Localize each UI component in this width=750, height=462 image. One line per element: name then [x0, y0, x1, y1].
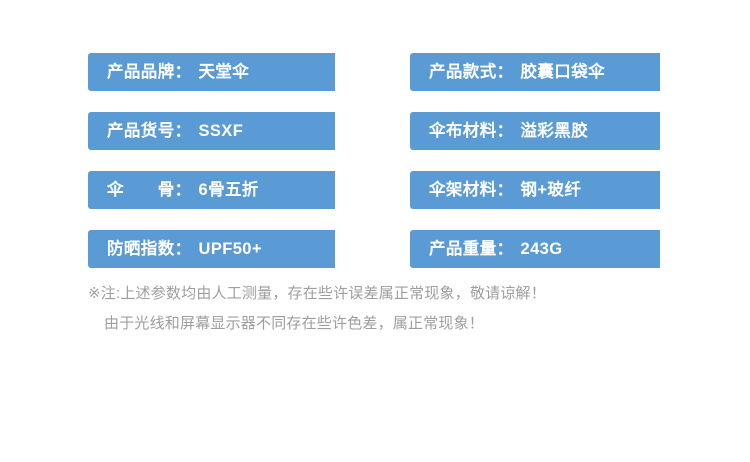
spec-row-weight: 产品重量： 243G [410, 230, 660, 268]
spec-value-item-number: SSXF [199, 123, 244, 140]
spec-column-right: 产品款式： 胶囊口袋伞 伞布材料： 溢彩黑胶 伞架材料： 钢+玻纤 产品重量： … [410, 53, 660, 268]
spec-value-ribs: 6骨五折 [199, 182, 259, 199]
spec-label-canopy-material: 伞布材料： [429, 123, 514, 140]
spec-value-frame-material: 钢+玻纤 [521, 182, 582, 199]
spec-label-frame-material: 伞架材料： [429, 182, 514, 199]
spec-row-item-number: 产品货号： SSXF [88, 112, 335, 150]
disclaimer-line-1: ※注:上述参数均由人工测量，存在些许误差属正常现象，敬请谅解！ [88, 279, 688, 309]
spec-row-ribs: 伞 骨： 6骨五折 [88, 171, 335, 209]
spec-label-ribs: 伞 骨： [107, 182, 192, 199]
spec-value-canopy-material: 溢彩黑胶 [521, 123, 589, 140]
spec-row-style: 产品款式： 胶囊口袋伞 [410, 53, 660, 91]
spec-value-weight: 243G [521, 241, 563, 258]
spec-value-brand: 天堂伞 [199, 64, 250, 81]
spec-value-style: 胶囊口袋伞 [521, 64, 606, 81]
spec-value-upf: UPF50+ [199, 241, 262, 258]
disclaimer-notes: ※注:上述参数均由人工测量，存在些许误差属正常现象，敬请谅解！ 由于光线和屏幕显… [88, 279, 688, 339]
spec-label-style: 产品款式： [429, 64, 514, 81]
spec-column-left: 产品品牌： 天堂伞 产品货号： SSXF 伞 骨： 6骨五折 防晒指数： UPF… [88, 53, 335, 268]
spec-label-upf: 防晒指数： [107, 241, 192, 258]
product-spec-sheet: 产品品牌： 天堂伞 产品货号： SSXF 伞 骨： 6骨五折 防晒指数： UPF… [0, 0, 750, 462]
spec-row-canopy-material: 伞布材料： 溢彩黑胶 [410, 112, 660, 150]
spec-label-item-number: 产品货号： [107, 123, 192, 140]
spec-label-brand: 产品品牌： [107, 64, 192, 81]
spec-grid: 产品品牌： 天堂伞 产品货号： SSXF 伞 骨： 6骨五折 防晒指数： UPF… [88, 53, 660, 268]
spec-row-frame-material: 伞架材料： 钢+玻纤 [410, 171, 660, 209]
disclaimer-line-2: 由于光线和屏幕显示器不同存在些许色差，属正常现象！ [88, 309, 688, 339]
spec-row-upf: 防晒指数： UPF50+ [88, 230, 335, 268]
spec-label-weight: 产品重量： [429, 241, 514, 258]
spec-row-brand: 产品品牌： 天堂伞 [88, 53, 335, 91]
